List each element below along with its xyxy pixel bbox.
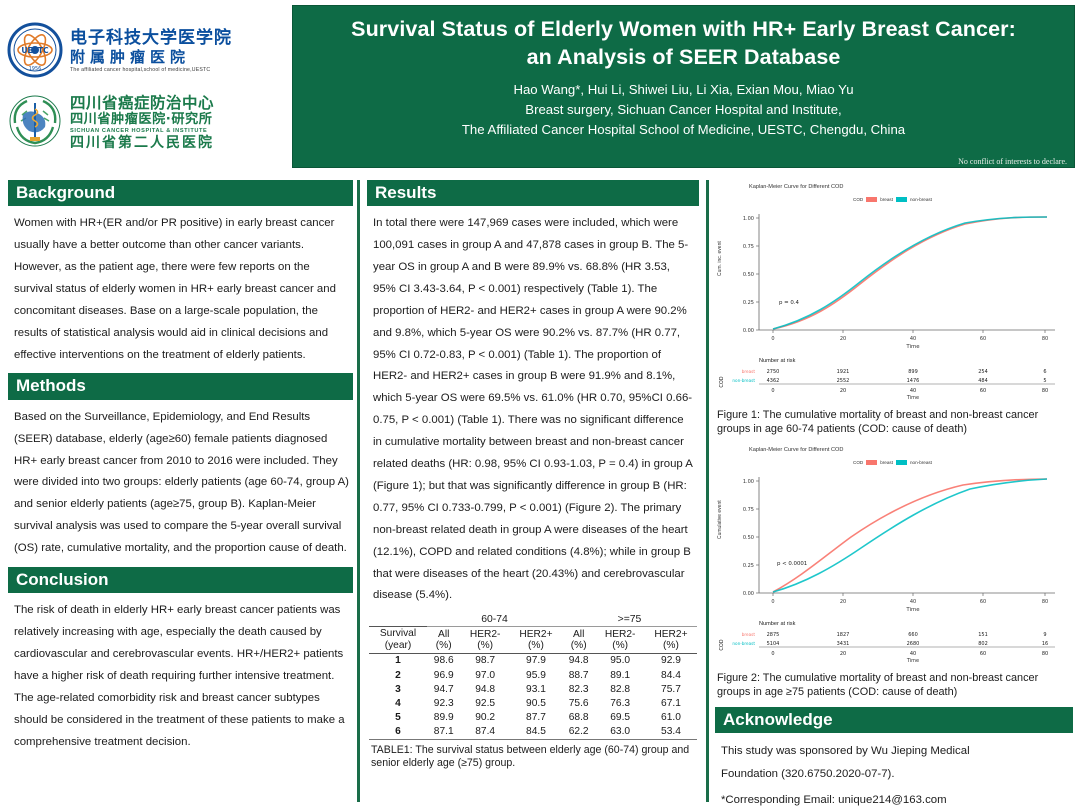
svg-text:6: 6 [1043,369,1046,375]
cell-value: 89.9 [427,710,460,724]
svg-text:COD: COD [719,639,725,650]
svg-text:Time: Time [906,658,919,662]
svg-text:5: 5 [1043,378,1046,384]
cell-value: 92.3 [427,696,460,710]
svg-text:0: 0 [771,651,774,657]
year-word: (year) [385,640,412,651]
figure-1-caption: Figure 1: The cumulative mortality of br… [717,408,1073,437]
svg-text:20: 20 [840,651,846,657]
svg-text:0.50: 0.50 [743,535,754,541]
svg-text:40: 40 [910,651,916,657]
svg-text:40: 40 [910,336,916,342]
section-heading-results: Results [367,180,699,208]
svg-text:1827: 1827 [837,632,850,638]
table-group-header-row: 60-74 >=75 [369,613,697,627]
figure-1-pvalue: p = 0.4 [779,300,800,306]
svg-text:80: 80 [1042,651,1048,657]
figure-1-plot: Kaplan-Meier Curve for Different COD COD… [715,180,1067,380]
section-heading-acknowledge: Acknowledge [715,707,1073,735]
svg-text:80: 80 [1042,336,1048,342]
cell-value: 94.7 [427,682,460,696]
svg-text:5104: 5104 [767,641,780,647]
table-col-header-0: All (%) [427,627,460,653]
figure-2-risk-title: Number at risk [759,621,795,627]
table-row-header-label: Survival (year) [369,627,427,653]
cell-value: 68.8 [562,710,595,724]
survival-table-wrapper: 60-74 >=75 Survival (year) All (%) HER2-… [367,613,699,771]
cell-value: 90.5 [510,696,562,710]
survival-table: 60-74 >=75 Survival (year) All (%) HER2-… [369,613,697,740]
cell-value: 88.7 [562,668,595,682]
svg-text:151: 151 [978,632,988,638]
figure-1-svg: 1.000.75 0.500.25 0.00 020 406080 Time p… [715,200,1067,358]
cell-value: 94.8 [460,682,510,696]
cell-value: 53.4 [645,725,697,740]
sichuan-cn-line3: 四川省第二人民医院 [70,136,214,150]
cell-year: 2 [369,668,427,682]
middle-column: Results In total there were 147,969 case… [367,180,699,771]
author-list: Hao Wang*, Hui Li, Shiwei Liu, Li Xia, E… [293,80,1074,100]
logo-sichuan: 四川省癌症防治中心 四川省肿瘤医院·研究所 SICHUAN CANCER HOS… [7,93,285,154]
table-col-header-5: HER2+(%) [645,627,697,653]
svg-text:60: 60 [980,651,986,657]
table-col-header-2: HER2+(%) [510,627,562,653]
poster-canvas: UESTC 1956 电子科技大学医学院 附属肿瘤医院 The affiliat… [0,0,1080,806]
svg-text:COD: COD [719,376,725,387]
table-row: 2 96.9 97.0 95.9 88.7 89.1 84.4 [369,668,697,682]
table-col-header-1: HER2-(%) [460,627,510,653]
svg-text:2875: 2875 [767,632,780,638]
methods-body-text: Based on the Surveillance, Epidemiology,… [8,407,353,560]
svg-text:0.75: 0.75 [743,507,754,513]
cell-value: 84.4 [645,668,697,682]
svg-text:1956: 1956 [29,66,42,72]
svg-text:60: 60 [980,599,986,605]
cell-value: 97.0 [460,668,510,682]
cell-value: 75.6 [562,696,595,710]
background-body-text: Women with HR+(ER and/or PR positive) in… [8,213,353,366]
svg-text:breast: breast [742,369,756,374]
cell-value: 87.4 [460,725,510,740]
svg-text:20: 20 [840,599,846,605]
svg-text:1.00: 1.00 [743,216,754,222]
svg-text:Time: Time [905,344,920,350]
left-column: Background Women with HR+(ER and/or PR p… [8,180,353,753]
cell-value: 95.9 [510,668,562,682]
cell-value: 84.5 [510,725,562,740]
section-heading-methods: Methods [8,373,353,401]
affiliation-line1: Breast surgery, Sichuan Cancer Hospital … [293,100,1074,120]
cell-value: 94.8 [562,653,595,668]
table-row: 5 89.9 90.2 87.7 68.8 69.5 61.0 [369,710,697,724]
cell-value: 97.9 [510,653,562,668]
right-column: Kaplan-Meier Curve for Different COD COD… [715,180,1073,812]
sichuan-logo-text: 四川省癌症防治中心 四川省肿瘤医院·研究所 SICHUAN CANCER HOS… [70,96,214,150]
svg-text:2552: 2552 [837,378,850,384]
svg-text:2750: 2750 [767,369,780,375]
svg-text:non-breast: non-breast [732,641,755,646]
svg-text:4362: 4362 [767,378,780,384]
survival-word: Survival [380,628,416,639]
column-divider-left [357,180,360,802]
cell-value: 90.2 [460,710,510,724]
cell-value: 69.5 [595,710,645,724]
table-row: 4 92.3 92.5 90.5 75.6 76.3 67.1 [369,696,697,710]
cell-value: 63.0 [595,725,645,740]
logo-uestc: UESTC 1956 电子科技大学医学院 附属肿瘤医院 The affiliat… [7,22,285,83]
uestc-cn-line1: 电子科技大学医学院 [70,30,232,47]
acknowledge-line2: Foundation (320.6750.2020-07-7). [715,763,1073,786]
table-group-header-60-74: 60-74 [427,613,562,627]
cell-value: 95.0 [595,653,645,668]
table-row: 3 94.7 94.8 93.1 82.3 82.8 75.7 [369,682,697,696]
svg-text:0.25: 0.25 [743,300,754,306]
cell-value: 76.3 [595,696,645,710]
acknowledge-email: *Corresponding Email: unique214@163.com [715,789,1073,812]
svg-text:802: 802 [978,641,988,647]
cell-year: 6 [369,725,427,740]
svg-text:254: 254 [978,369,988,375]
svg-text:16: 16 [1042,641,1048,647]
svg-text:1.00: 1.00 [743,479,754,485]
svg-text:0.25: 0.25 [743,563,754,569]
cell-value: 82.3 [562,682,595,696]
cell-value: 67.1 [645,696,697,710]
cell-year: 5 [369,710,427,724]
svg-text:breast: breast [742,632,756,637]
svg-text:Time: Time [905,607,920,613]
table-col-header-4: HER2-(%) [595,627,645,653]
svg-text:0.75: 0.75 [743,244,754,250]
cell-value: 61.0 [645,710,697,724]
svg-text:2680: 2680 [907,641,920,647]
page-title-line1: Survival Status of Elderly Women with HR… [293,16,1074,44]
svg-text:0: 0 [771,388,774,394]
table-caption: TABLE1: The survival status between elde… [369,744,697,771]
cell-value: 98.7 [460,653,510,668]
sichuan-cn-line2: 四川省肿瘤医院·研究所 [70,113,214,126]
section-heading-background: Background [8,180,353,208]
figure-2-risk-svg: 28751827660 1519 510434312680 80216 0204… [715,628,1067,662]
table-column-header-row: Survival (year) All (%) HER2-(%) HER2+(%… [369,627,697,653]
results-body-text: In total there were 147,969 cases were i… [367,213,699,607]
table-row: 1 98.6 98.7 97.9 94.8 95.0 92.9 [369,653,697,668]
sichuan-cn-line1: 四川省癌症防治中心 [70,96,214,112]
svg-text:40: 40 [910,599,916,605]
svg-text:Time: Time [906,395,919,399]
table-corner-cell [369,613,427,627]
svg-text:0: 0 [771,599,774,605]
svg-text:3431: 3431 [837,641,850,647]
cell-year: 3 [369,682,427,696]
conflict-note: No conflict of interests to declare. [958,157,1067,166]
svg-text:non-breast: non-breast [732,378,755,383]
svg-text:UESTC: UESTC [21,46,49,55]
cell-year: 4 [369,696,427,710]
svg-text:80: 80 [1042,388,1048,394]
cell-value: 87.1 [427,725,460,740]
figure-2-caption: Figure 2: The cumulative mortality of br… [717,671,1073,700]
uestc-en-line: The affiliated cancer hospital,school of… [70,68,232,73]
uestc-logo-text: 电子科技大学医学院 附属肿瘤医院 The affiliated cancer h… [70,30,232,73]
cell-value: 89.1 [595,668,645,682]
cell-value: 93.1 [510,682,562,696]
cell-value: 96.9 [427,668,460,682]
svg-text:0.50: 0.50 [743,272,754,278]
svg-text:20: 20 [840,388,846,394]
svg-text:660: 660 [908,632,918,638]
sichuan-hospital-emblem-icon [7,93,63,154]
svg-text:40: 40 [910,388,916,394]
acknowledge-line1: This study was sponsored by Wu Jieping M… [715,740,1073,763]
sichuan-en-line: SICHUAN CANCER HOSPITAL & INSTITUTE [70,129,214,135]
svg-text:60: 60 [980,336,986,342]
svg-text:0: 0 [771,336,774,342]
figure-1-risk-svg: 27501921899 2546 436225521476 4845 02040… [715,365,1067,399]
column-divider-right [706,180,709,802]
poster-header: UESTC 1956 电子科技大学医学院 附属肿瘤医院 The affiliat… [0,0,1080,173]
section-heading-conclusion: Conclusion [8,567,353,595]
conclusion-body-text: The risk of death in elderly HR+ early b… [8,600,353,753]
svg-text:80: 80 [1042,599,1048,605]
table-col-header-3: All (%) [562,627,595,653]
uestc-emblem-icon: UESTC 1956 [7,22,63,83]
svg-text:0.00: 0.00 [743,591,754,597]
cell-value: 75.7 [645,682,697,696]
figure-2-title: Kaplan-Meier Curve for Different COD [749,447,843,453]
cell-value: 87.7 [510,710,562,724]
cell-value: 98.6 [427,653,460,668]
cell-value: 82.8 [595,682,645,696]
figure-2-plot: Kaplan-Meier Curve for Different COD COD… [715,443,1067,643]
cell-year: 1 [369,653,427,668]
cell-value: 92.5 [460,696,510,710]
figure-2-svg: 1.000.75 0.500.25 0.00 020 406080 Time p… [715,463,1067,621]
figure-1-risk-title: Number at risk [759,358,795,364]
svg-text:899: 899 [908,369,918,375]
svg-text:484: 484 [978,378,988,384]
uestc-cn-line2: 附属肿瘤医院 [70,50,232,65]
title-banner: Survival Status of Elderly Women with HR… [292,5,1075,168]
svg-text:60: 60 [980,388,986,394]
svg-text:9: 9 [1043,632,1046,638]
svg-text:1921: 1921 [837,369,850,375]
svg-text:20: 20 [840,336,846,342]
cell-value: 92.9 [645,653,697,668]
figure-2-pvalue: p < 0.0001 [777,561,807,567]
page-title-line2: an Analysis of SEER Database [293,44,1074,72]
table-group-header-75plus: >=75 [562,613,697,627]
svg-text:0.00: 0.00 [743,328,754,334]
survival-table-body: 1 98.6 98.7 97.9 94.8 95.0 92.9 2 96.9 9… [369,653,697,739]
affiliation-line2: The Affiliated Cancer Hospital School of… [293,120,1074,140]
logo-column: UESTC 1956 电子科技大学医学院 附属肿瘤医院 The affiliat… [0,0,292,173]
figure-1-title: Kaplan-Meier Curve for Different COD [749,184,843,190]
cell-value: 62.2 [562,725,595,740]
table-row: 6 87.1 87.4 84.5 62.2 63.0 53.4 [369,725,697,740]
svg-text:1476: 1476 [907,378,920,384]
